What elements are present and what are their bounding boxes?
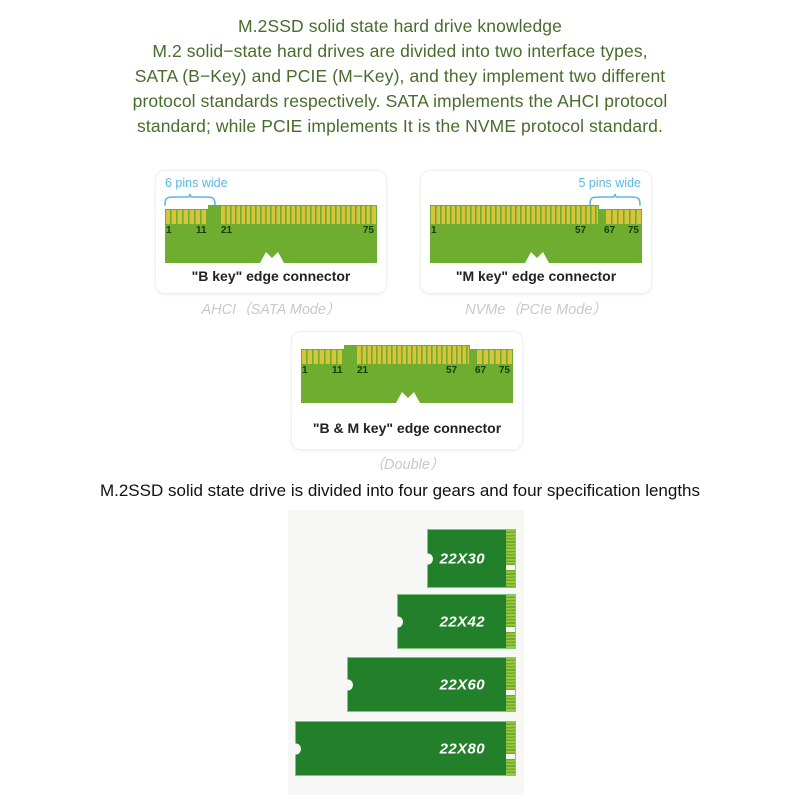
ssd-gold-connector-icon xyxy=(506,530,515,587)
b-key-pin-number-11: 11 xyxy=(196,225,207,236)
intro-line-1: M.2 solid−state hard drives are divided … xyxy=(0,39,800,64)
ssd-label-22x30: 22X30 xyxy=(440,550,485,567)
ssd-notch-icon xyxy=(343,679,353,690)
b-key-pin-number-75: 75 xyxy=(363,225,374,236)
intro-text-block: M.2SSD solid state hard drive knowledge … xyxy=(0,14,800,139)
panel-b-key: 6 pins wide xyxy=(156,171,386,293)
bm-key-connector-title: "B & M key" edge connector xyxy=(292,420,522,436)
ssd-card-22x42: 22X42 xyxy=(398,595,515,648)
bm-key-pin-number-57: 57 xyxy=(446,365,457,376)
page-title: M.2SSD solid state hard drive knowledge xyxy=(0,14,800,39)
bm-key-pin-number-21: 21 xyxy=(357,365,368,376)
b-key-pin-number-21: 21 xyxy=(221,225,232,236)
ssd-label-22x60: 22X60 xyxy=(440,676,485,693)
bm-key-pin-number-75: 75 xyxy=(499,365,510,376)
ssd-notch-icon xyxy=(393,616,403,627)
panel-m-key-caption: NVMe（PCIe Mode） xyxy=(421,298,651,319)
m-key-pin-number-57: 57 xyxy=(575,225,586,236)
m-key-pin-number-1: 1 xyxy=(431,225,437,236)
sizes-section-heading: M.2SSD solid state drive is divided into… xyxy=(0,481,800,501)
ssd-label-22x42: 22X42 xyxy=(440,613,485,630)
m-key-pins-wide-label: 5 pins wide xyxy=(578,176,641,190)
b-key-pin-number-1: 1 xyxy=(166,225,172,236)
bm-key-pin-number-1: 1 xyxy=(302,365,308,376)
infographic-root: M.2SSD solid state hard drive knowledge … xyxy=(0,0,800,800)
ssd-notch-icon xyxy=(423,553,433,564)
ssd-card-22x80: 22X80 xyxy=(296,722,515,775)
ssd-gold-connector-icon xyxy=(506,595,515,648)
ssd-gold-connector-icon xyxy=(506,658,515,711)
bm-key-pin-number-11: 11 xyxy=(332,365,343,376)
m-key-pin-number-67: 67 xyxy=(604,225,615,236)
bm-key-pin-number-67: 67 xyxy=(475,365,486,376)
bm-key-connector-drawing: 1 11 21 57 67 75 xyxy=(301,345,513,403)
panel-b-key-caption: AHCI（SATA Mode） xyxy=(156,298,386,319)
ssd-gold-connector-icon xyxy=(506,722,515,775)
intro-line-2: SATA (B−Key) and PCIE (M−Key), and they … xyxy=(0,64,800,89)
b-key-pins-wide-label: 6 pins wide xyxy=(165,176,228,190)
m-key-connector-title: "M key" edge connector xyxy=(421,268,651,284)
b-key-connector-drawing: 1 11 21 75 xyxy=(165,205,377,263)
intro-line-3: protocol standards respectively. SATA im… xyxy=(0,89,800,114)
ssd-sizes-panel: 22X30 22X42 22X60 22X80 xyxy=(288,510,524,795)
intro-line-4: standard; while PCIE implements It is th… xyxy=(0,114,800,139)
panel-bm-key-caption: （Double） xyxy=(292,453,522,474)
ssd-card-22x30: 22X30 xyxy=(428,530,515,587)
ssd-label-22x80: 22X80 xyxy=(440,740,485,757)
m-key-connector-drawing: 1 57 67 75 xyxy=(430,205,642,263)
panel-bm-key: 1 11 21 57 67 75 "B & M key" edge connec… xyxy=(292,332,522,449)
panel-m-key: 5 pins wide xyxy=(421,171,651,293)
ssd-notch-icon xyxy=(291,743,301,754)
ssd-card-22x60: 22X60 xyxy=(348,658,515,711)
b-key-connector-title: "B key" edge connector xyxy=(156,268,386,284)
m-key-pin-number-75: 75 xyxy=(628,225,639,236)
